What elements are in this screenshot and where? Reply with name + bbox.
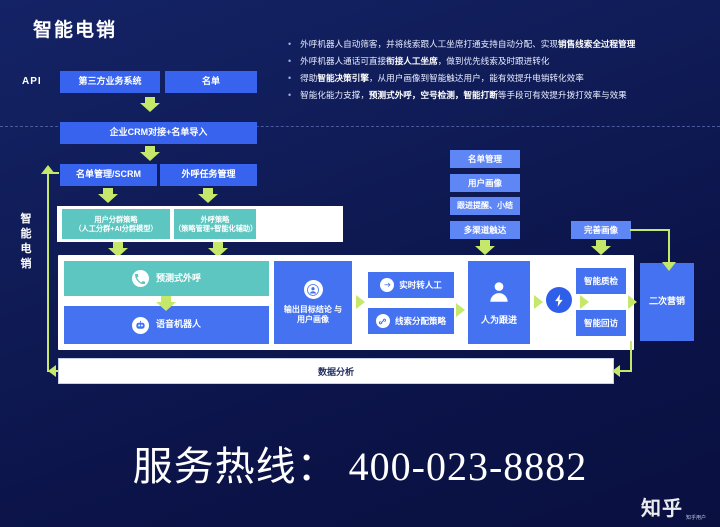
box-name-list[interactable]: 名单 bbox=[165, 71, 257, 93]
box-human-followup[interactable]: 人为跟进 bbox=[468, 261, 530, 344]
page-title: 智能电销 bbox=[33, 15, 117, 42]
box-transfer-to-agent[interactable]: 实时转人工 bbox=[368, 272, 454, 298]
bullet-dot: • bbox=[288, 70, 291, 87]
hotline-text: 服务热线： 400-023-8882 bbox=[0, 434, 720, 492]
box-smart-revisit[interactable]: 智能回访 bbox=[576, 310, 626, 336]
box-crm-import[interactable]: 企业CRM对接+名单导入 bbox=[60, 122, 257, 144]
chevron-right-icon bbox=[534, 295, 543, 309]
chevron-left-icon bbox=[612, 365, 620, 377]
box-predictive-dialing[interactable]: 预测式外呼 bbox=[64, 261, 269, 296]
bullet-dot: • bbox=[288, 87, 291, 104]
list-item: • 得助智能决策引擎，从用户画像到智能触达用户，能有效提升电销转化效率 bbox=[288, 70, 718, 87]
box-list-management[interactable]: 名单管理/SCRM bbox=[60, 164, 157, 186]
flow-rail-right-top bbox=[630, 229, 670, 231]
box-human-followup-label: 人为跟进 bbox=[481, 315, 517, 326]
bullet-text: 外呼机器人通话可直接衔接人工坐席，做到优先线索及时跟进转化 bbox=[300, 53, 549, 70]
bullet-text: 外呼机器人自动筛客，并将线索跟人工坐席打通支持自动分配、实现销售线索全过程管理 bbox=[300, 36, 635, 53]
chevron-right-icon bbox=[628, 295, 637, 309]
chevron-right-icon bbox=[580, 295, 589, 309]
arrow-down-icon bbox=[591, 240, 611, 255]
box-user-segmentation-title: 用户分群策略 bbox=[94, 215, 137, 224]
box-side-followup-reminder[interactable]: 跟进提醒、小结 bbox=[450, 197, 520, 215]
box-outbound-task-management[interactable]: 外呼任务管理 bbox=[160, 164, 257, 186]
flow-rail-bottom-riser bbox=[630, 341, 632, 372]
box-output-profile-line2: 用户画像 bbox=[297, 315, 329, 325]
list-item: • 外呼机器人通话可直接衔接人工坐席，做到优先线索及时跟进转化 bbox=[288, 53, 718, 70]
arrow-down-icon bbox=[156, 296, 176, 310]
arrow-down-icon bbox=[475, 240, 495, 255]
box-output-profile[interactable]: 输出目标结论 与 用户画像 bbox=[274, 261, 352, 344]
arrow-down-icon bbox=[140, 146, 160, 162]
box-voice-robot-label: 语音机器人 bbox=[156, 319, 201, 330]
box-user-segmentation[interactable]: 用户分群策略 （人工分群+AI分群模型） bbox=[62, 209, 170, 239]
flow-rail-left-tick bbox=[47, 172, 59, 174]
bullet-dot: • bbox=[288, 53, 291, 70]
list-item: • 外呼机器人自动筛客，并将线索跟人工坐席打通支持自动分配、实现销售线索全过程管… bbox=[288, 36, 718, 53]
box-third-party-system[interactable]: 第三方业务系统 bbox=[60, 71, 160, 93]
box-lead-allocation-label: 线索分配策略 bbox=[395, 316, 446, 327]
box-side-multichannel-reach[interactable]: 多渠道触达 bbox=[450, 221, 520, 239]
watermark: 知乎 知乎用户 bbox=[641, 492, 712, 521]
box-strategy-optimization-platform[interactable]: 策略优化平台 bbox=[261, 209, 338, 239]
robot-icon bbox=[132, 317, 149, 334]
phone-icon bbox=[132, 270, 149, 287]
box-transfer-label: 实时转人工 bbox=[399, 280, 442, 291]
person-icon bbox=[486, 279, 512, 308]
chevron-right-icon bbox=[356, 295, 365, 309]
bullet-dot: • bbox=[288, 36, 291, 53]
arrow-down-icon bbox=[662, 262, 676, 271]
box-quality-inspection[interactable]: 智能质检 bbox=[576, 268, 626, 294]
chevron-right-icon bbox=[456, 303, 465, 317]
box-lead-allocation[interactable]: 线索分配策略 bbox=[368, 308, 454, 334]
box-profile-enrichment[interactable]: 完善画像 bbox=[571, 221, 631, 239]
watermark-sub: 知乎用户 bbox=[686, 515, 712, 521]
bullet-list: • 外呼机器人自动筛客，并将线索跟人工坐席打通支持自动分配、实现销售线索全过程管… bbox=[288, 36, 718, 104]
flow-rail-right bbox=[668, 229, 670, 265]
slide-canvas: 智能电销 • 外呼机器人自动筛客，并将线索跟人工坐席打通支持自动分配、实现销售线… bbox=[0, 0, 720, 527]
watermark-brand: 知乎 bbox=[641, 492, 683, 521]
flow-rail-left bbox=[47, 172, 49, 372]
conversion-label: 转化 bbox=[539, 318, 579, 331]
arrow-down-icon bbox=[198, 188, 218, 204]
conversion-icon bbox=[546, 287, 572, 313]
box-outbound-strategy-title: 外呼策略 bbox=[201, 215, 230, 224]
chevron-left-icon bbox=[48, 365, 56, 377]
box-outbound-strategy-sub: （策略管理+智能化辅助） bbox=[174, 224, 256, 233]
box-output-profile-line1: 输出目标结论 与 bbox=[284, 305, 342, 315]
box-voice-robot[interactable]: 语音机器人 bbox=[64, 306, 269, 344]
box-user-segmentation-sub: （人工分群+AI分群模型） bbox=[74, 224, 157, 233]
api-label: API bbox=[22, 76, 42, 87]
arrow-down-icon bbox=[98, 188, 118, 204]
bullet-text: 智能化能力支撑，预测式外呼，空号检测，智能打断等手段可有效提升拨打效率与效果 bbox=[300, 87, 627, 104]
link-icon bbox=[376, 314, 390, 328]
box-predictive-dialing-label: 预测式外呼 bbox=[156, 273, 201, 284]
bullet-text: 得助智能决策引擎，从用户画像到智能触达用户，能有效提升电销转化效率 bbox=[300, 70, 584, 87]
vertical-section-label: 智能电销 bbox=[18, 212, 34, 272]
box-secondary-marketing[interactable]: 二次营销 bbox=[640, 263, 694, 341]
arrow-down-icon bbox=[140, 97, 160, 113]
list-item: • 智能化能力支撑，预测式外呼，空号检测，智能打断等手段可有效提升拨打效率与效果 bbox=[288, 87, 718, 104]
user-profile-icon bbox=[304, 280, 323, 299]
box-data-analysis[interactable]: 数据分析 bbox=[58, 358, 614, 384]
box-outbound-strategy[interactable]: 外呼策略 （策略管理+智能化辅助） bbox=[174, 209, 256, 239]
transfer-icon bbox=[380, 278, 394, 292]
box-side-user-profile[interactable]: 用户画像 bbox=[450, 174, 520, 192]
box-side-list-management[interactable]: 名单管理 bbox=[450, 150, 520, 168]
